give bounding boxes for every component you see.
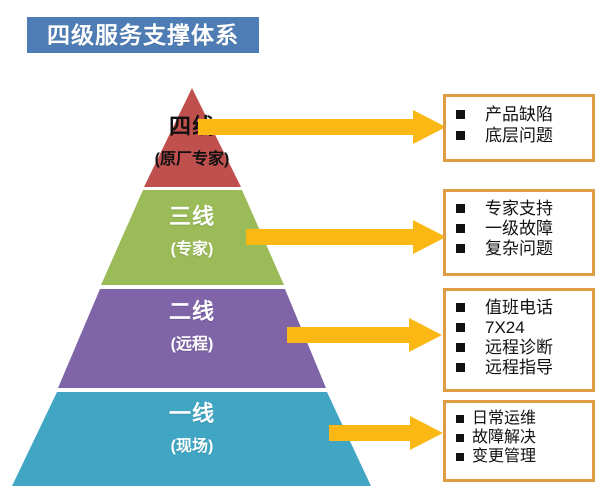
square-bullet-icon (456, 303, 465, 312)
list-item: 变更管理 (456, 448, 584, 466)
callout-tier-1-list: 日常运维 故障解决 变更管理 (456, 410, 584, 466)
callout-item-text: 7X24 (485, 318, 525, 337)
square-bullet-icon (456, 204, 465, 213)
square-bullet-icon (456, 434, 464, 442)
callout-tier-3: 专家支持 一级故障 复杂问题 (443, 189, 595, 276)
arrow-tier-4 (198, 110, 446, 144)
list-item: 远程诊断 (456, 338, 584, 357)
square-bullet-icon (456, 131, 465, 140)
arrow-tier-2 (287, 318, 442, 352)
pyramid-tier-1-shape (12, 392, 371, 486)
callout-item-text: 产品缺陷 (485, 105, 553, 124)
square-bullet-icon (456, 244, 465, 253)
list-item: 产品缺陷 (456, 105, 584, 124)
page-title: 四级服务支撑体系 (47, 24, 239, 47)
list-item: 底层问题 (456, 126, 584, 145)
square-bullet-icon (456, 415, 464, 423)
callout-tier-1: 日常运维 故障解决 变更管理 (443, 400, 595, 482)
callout-tier-4-list: 产品缺陷 底层问题 (456, 105, 584, 145)
list-item: 远程指导 (456, 358, 584, 377)
square-bullet-icon (456, 110, 465, 119)
callout-item-text: 远程指导 (485, 358, 553, 377)
callout-item-text: 复杂问题 (485, 239, 553, 258)
square-bullet-icon (456, 224, 465, 233)
pyramid-tier-2-shape (58, 289, 326, 388)
list-item: 一级故障 (456, 219, 584, 238)
callout-tier-2: 值班电话 7X24 远程诊断 远程指导 (443, 288, 595, 392)
list-item: 值班电话 (456, 298, 584, 317)
square-bullet-icon (456, 453, 464, 461)
callout-tier-3-list: 专家支持 一级故障 复杂问题 (456, 199, 584, 258)
callout-item-text: 一级故障 (485, 219, 553, 238)
callout-item-text: 专家支持 (485, 199, 553, 218)
list-item: 故障解决 (456, 429, 584, 447)
callout-item-text: 远程诊断 (485, 338, 553, 357)
page-title-banner: 四级服务支撑体系 (27, 17, 259, 53)
list-item: 专家支持 (456, 199, 584, 218)
square-bullet-icon (456, 363, 465, 372)
arrow-tier-1 (329, 416, 443, 450)
callout-item-text: 日常运维 (472, 410, 536, 428)
list-item: 7X24 (456, 318, 584, 337)
arrow-tier-3 (246, 220, 446, 254)
callout-item-text: 变更管理 (472, 448, 536, 466)
callout-item-text: 故障解决 (472, 429, 536, 447)
callout-tier-2-list: 值班电话 7X24 远程诊断 远程指导 (456, 298, 584, 377)
square-bullet-icon (456, 323, 465, 332)
callout-tier-4: 产品缺陷 底层问题 (443, 94, 595, 162)
callout-item-text: 底层问题 (485, 126, 553, 145)
list-item: 日常运维 (456, 410, 584, 428)
list-item: 复杂问题 (456, 239, 584, 258)
diagram-canvas: 四级服务支撑体系 四线 (原厂专家) 三线 (专家) 二线 (远程) 一线 (现… (0, 0, 612, 500)
square-bullet-icon (456, 343, 465, 352)
callout-item-text: 值班电话 (485, 298, 553, 317)
